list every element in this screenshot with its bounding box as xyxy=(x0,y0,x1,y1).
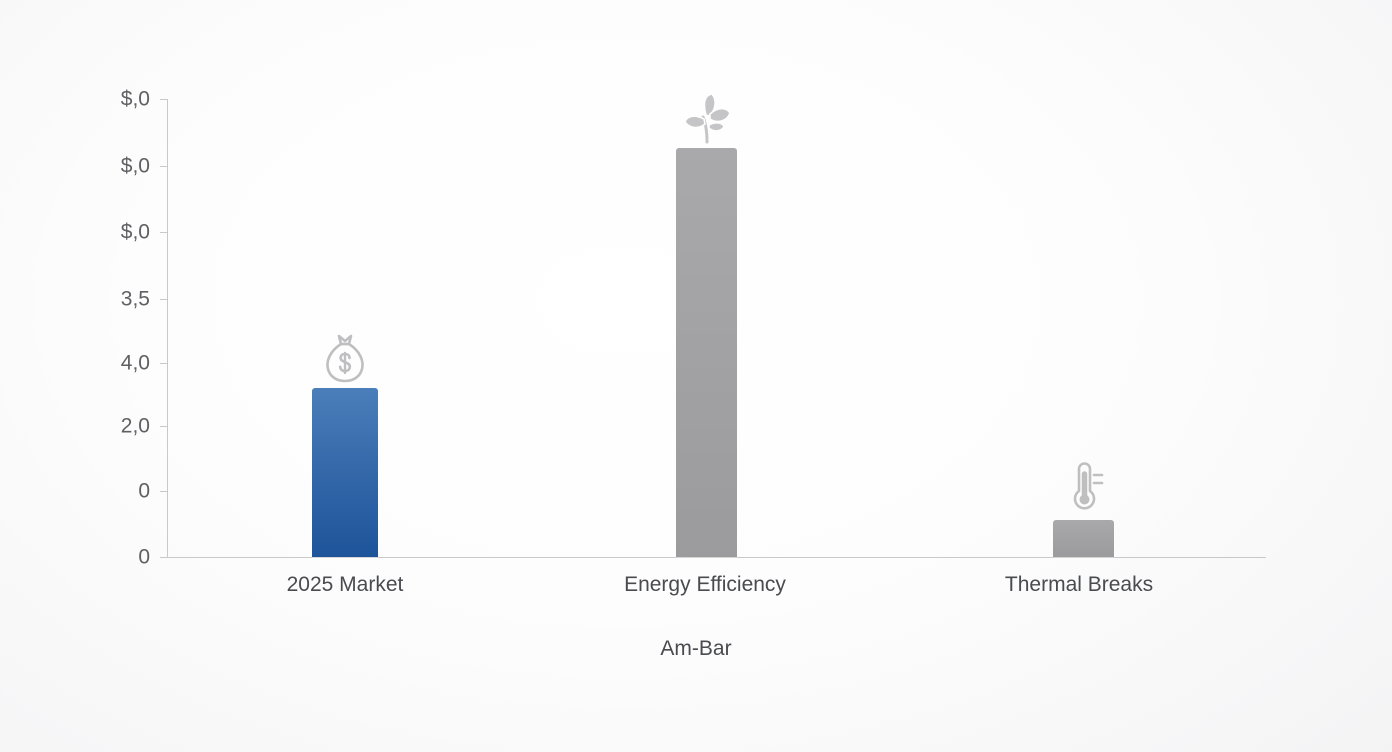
bar-thermal-breaks[interactable] xyxy=(1053,520,1114,557)
y-tick-label: 4,0 xyxy=(92,353,150,374)
y-tick-label: 0 xyxy=(92,481,150,502)
y-tick-mark xyxy=(160,491,168,492)
bar-2025-market[interactable] xyxy=(312,388,378,557)
y-tick-label: 3,5 xyxy=(92,289,150,310)
y-tick-label: $,0 xyxy=(92,89,150,110)
x-tick-label: Energy Efficiency xyxy=(624,573,786,597)
y-tick-label: 2,0 xyxy=(92,416,150,437)
y-tick-label: $,0 xyxy=(92,156,150,177)
leaf-sprout-icon xyxy=(679,92,735,146)
y-tick-mark xyxy=(160,299,168,300)
bar-energy-efficiency[interactable] xyxy=(676,148,737,557)
bar-chart-figure: $,0$,0$,03,54,02,000 UAE Aaoiaiiagc '¿ab… xyxy=(0,0,1392,752)
y-tick-label: $,0 xyxy=(92,222,150,243)
y-tick-label: 0 xyxy=(92,547,150,568)
y-tick-mark xyxy=(160,557,168,558)
y-tick-mark xyxy=(160,99,168,100)
x-tick-label: 2025 Market xyxy=(287,573,404,597)
money-bag-icon xyxy=(322,332,368,384)
x-axis-line xyxy=(167,557,1266,558)
y-tick-mark xyxy=(160,232,168,233)
y-axis-line xyxy=(167,99,168,558)
x-tick-label: Thermal Breaks xyxy=(1005,573,1153,597)
y-tick-mark xyxy=(160,363,168,364)
thermometer-icon xyxy=(1061,458,1107,514)
x-axis-title: Am-Bar xyxy=(0,637,1392,661)
y-tick-mark xyxy=(160,166,168,167)
y-tick-mark xyxy=(160,426,168,427)
